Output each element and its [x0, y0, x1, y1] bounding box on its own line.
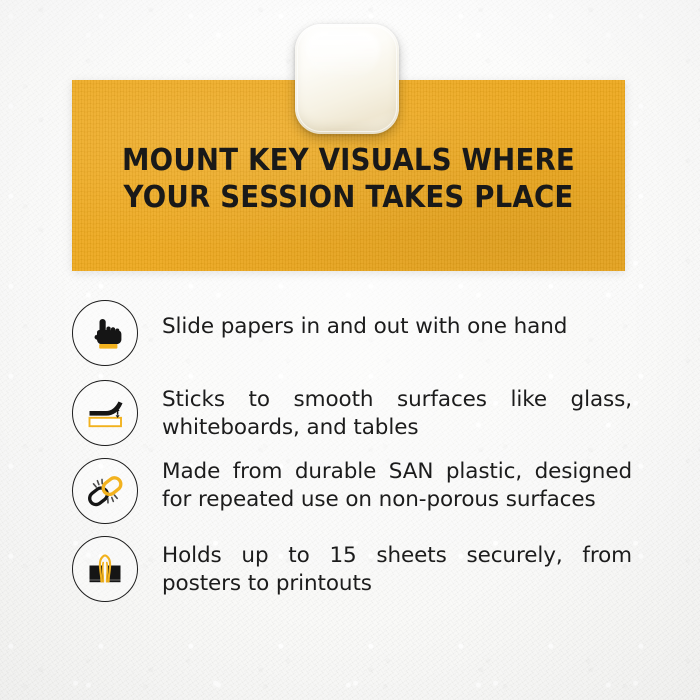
- chain-link-icon: [84, 470, 126, 512]
- feature-icon-badge: [72, 300, 138, 366]
- product-feature-card: MOUNT KEY VISUALS WHERE YOUR SESSION TAK…: [0, 0, 700, 700]
- list-item: Holds up to 15 sheets securely, from pos…: [72, 536, 632, 602]
- list-item: Slide papers in and out with one hand: [72, 300, 632, 366]
- feature-text: Slide papers in and out with one hand: [162, 300, 632, 341]
- feature-text: Sticks to smooth surfaces like glass, wh…: [162, 380, 632, 442]
- feature-list: Slide papers in and out with one hand: [72, 300, 632, 615]
- pointing-hand-icon: [85, 313, 125, 353]
- peel-strip-surface-icon: [84, 392, 126, 434]
- list-item: Made from durable SAN plastic, designed …: [72, 458, 632, 524]
- page-title: MOUNT KEY VISUALS WHERE YOUR SESSION TAK…: [94, 142, 603, 216]
- feature-text: Holds up to 15 sheets securely, from pos…: [162, 536, 632, 598]
- feature-icon-badge: [72, 536, 138, 602]
- feature-icon-badge: [72, 380, 138, 446]
- white-adhesive-clip-product: [295, 24, 399, 134]
- feature-text: Made from durable SAN plastic, designed …: [162, 458, 632, 514]
- binder-clip-icon: [84, 548, 126, 590]
- feature-icon-badge: [72, 458, 138, 524]
- list-item: Sticks to smooth surfaces like glass, wh…: [72, 380, 632, 446]
